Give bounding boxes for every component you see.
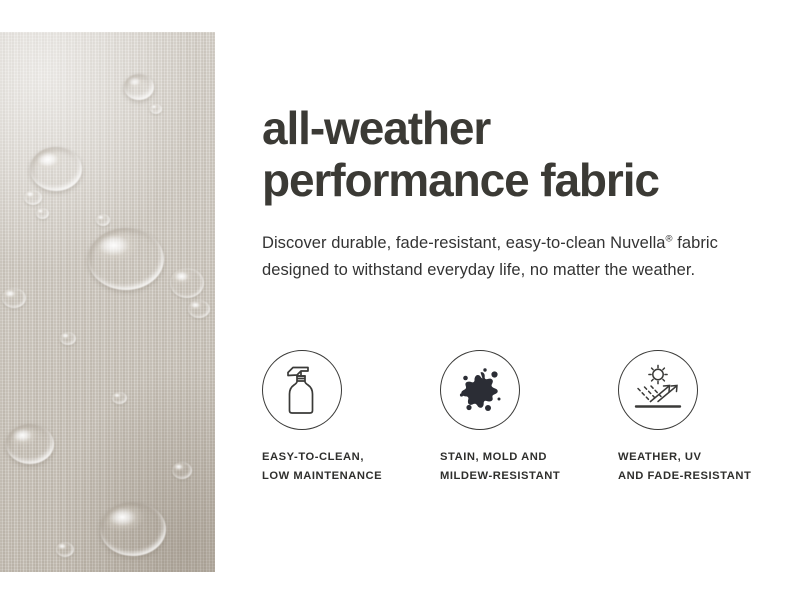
water-droplet (36, 208, 49, 219)
page-title: all-weather performance fabric (262, 103, 792, 207)
promo-banner: all-weather performance fabric Discover … (0, 0, 800, 600)
water-droplet (100, 502, 166, 556)
water-droplet (124, 74, 154, 100)
water-droplet (172, 462, 192, 479)
water-droplet (170, 268, 204, 298)
feature-caption: STAIN, MOLD AND MILDEW-RESISTANT (440, 448, 618, 487)
water-droplet (30, 147, 82, 191)
feature-item-stain-resistant: STAIN, MOLD AND MILDEW-RESISTANT (440, 350, 618, 487)
water-droplet (88, 228, 164, 290)
registered-trademark-mark: ® (666, 234, 673, 245)
feature-caption: WEATHER, UV AND FADE-RESISTANT (618, 448, 796, 487)
feature-icon-badge (618, 350, 698, 430)
water-droplet (56, 542, 74, 557)
fabric-lighting-overlay (0, 32, 215, 572)
feature-item-easy-to-clean: EASY-TO-CLEAN, LOW MAINTENANCE (262, 350, 440, 487)
water-droplet (60, 332, 76, 345)
water-droplet (2, 288, 26, 308)
sun-uv-reflect-icon (630, 364, 686, 416)
water-droplet (188, 300, 210, 318)
content-column: all-weather performance fabric Discover … (262, 0, 790, 600)
water-droplet (6, 424, 54, 464)
feature-icon-badge (262, 350, 342, 430)
water-droplet (24, 190, 42, 205)
water-droplet (96, 214, 110, 226)
feature-caption: EASY-TO-CLEAN, LOW MAINTENANCE (262, 448, 440, 487)
fabric-photo (0, 32, 215, 572)
spray-bottle-icon (277, 362, 327, 418)
body-copy: Discover durable, fade-resistant, easy-t… (262, 230, 747, 283)
body-copy-part-1: Discover durable, fade-resistant, easy-t… (262, 234, 666, 252)
feature-item-uv-resistant: WEATHER, UV AND FADE-RESISTANT (618, 350, 796, 487)
water-droplet (112, 392, 127, 404)
stain-splat-icon (453, 365, 507, 415)
feature-list: EASY-TO-CLEAN, LOW MAINTENANCE (262, 350, 790, 487)
water-droplet (150, 104, 162, 114)
feature-icon-badge (440, 350, 520, 430)
